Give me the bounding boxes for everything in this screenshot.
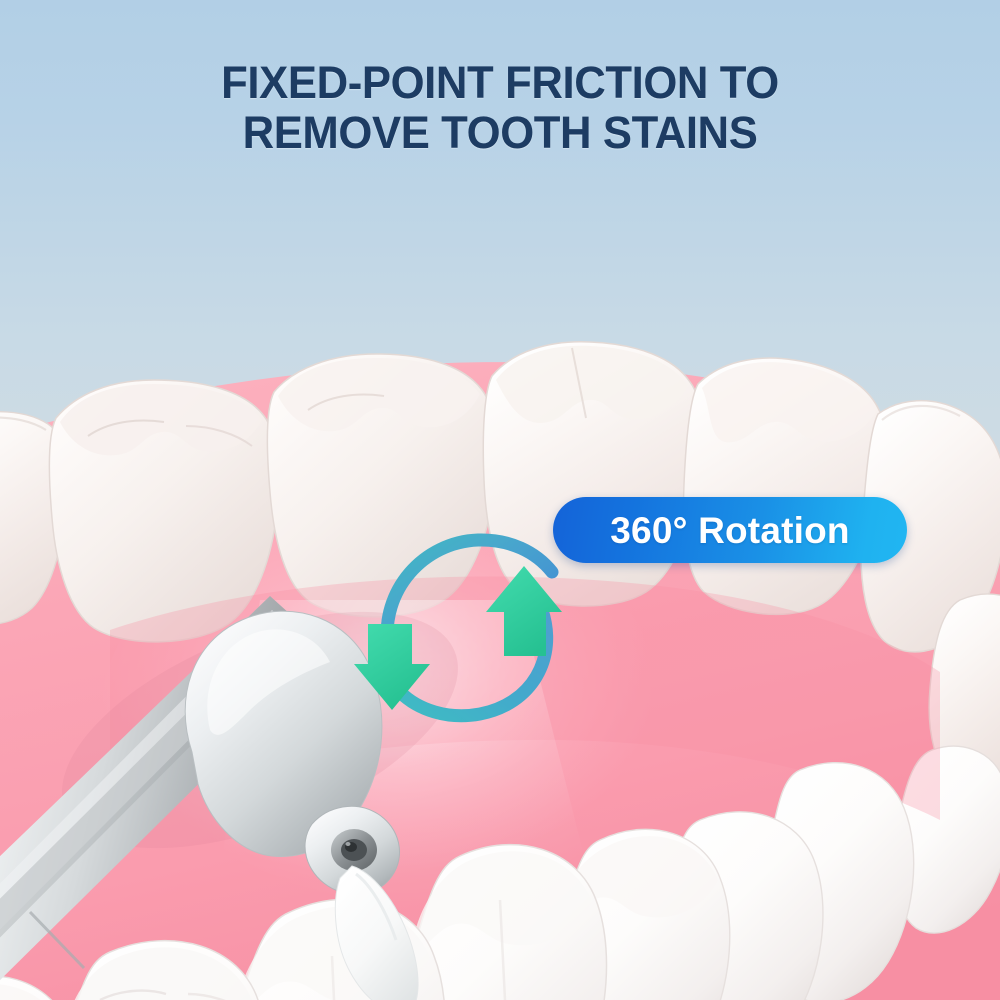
dental-arch-illustration <box>0 300 1000 1000</box>
dental-arch-svg <box>0 300 1000 1000</box>
page-title: FIXED-POINT FRICTION TO REMOVE TOOTH STA… <box>15 58 985 159</box>
headline-line-1: FIXED-POINT FRICTION TO <box>221 57 779 108</box>
rotation-badge-label: 360° Rotation <box>610 512 849 549</box>
promo-image-canvas: FIXED-POINT FRICTION TO REMOVE TOOTH STA… <box>0 0 1000 1000</box>
rotation-badge[interactable]: 360° Rotation <box>553 497 907 563</box>
headline-line-2: REMOVE TOOTH STAINS <box>15 108 985 158</box>
